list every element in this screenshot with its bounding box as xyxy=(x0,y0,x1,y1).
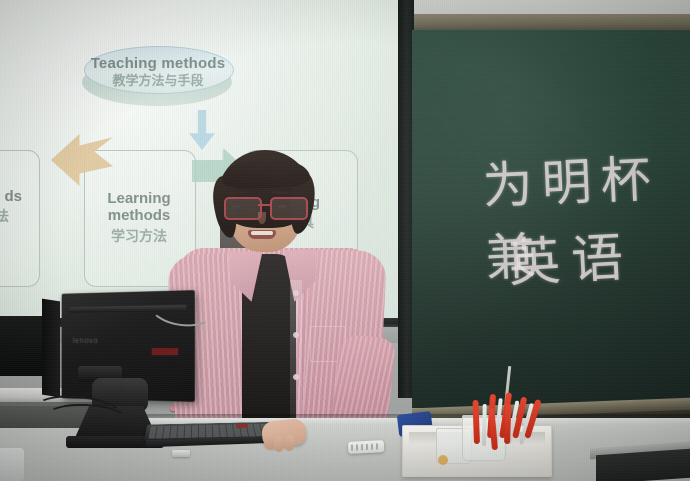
slide-text-left-en: ng ds xyxy=(0,188,38,205)
white-tool xyxy=(482,404,487,446)
blackboard-top-frame xyxy=(412,14,690,31)
arrow-down-icon xyxy=(189,110,215,150)
usb-drive xyxy=(172,450,190,457)
slide-text-mid-zh: 学习方法 xyxy=(84,228,194,244)
slide-text-teaching-methods: ng ds 法 xyxy=(0,188,38,225)
eyeglasses xyxy=(222,197,308,217)
slide-title-zh: 教学方法与手段 xyxy=(80,74,236,89)
teeth xyxy=(251,231,273,235)
clear-jar xyxy=(0,448,24,481)
blackboard-upper-wall xyxy=(412,0,690,15)
eyeglass-bridge xyxy=(258,204,271,206)
slide-text-mid-en: Learning methods xyxy=(84,190,194,225)
shirt-placket xyxy=(290,280,302,430)
shirt-button xyxy=(293,374,299,380)
classroom-photo: Teaching methods 教学方法与手段 ng ds 法 Learnin… xyxy=(0,0,690,481)
finger xyxy=(285,435,295,451)
lenovo-logo: lenovo xyxy=(73,336,99,345)
shirt-button xyxy=(293,332,299,338)
desk-right-dark-block xyxy=(596,449,690,481)
slide-text-left-zh: 法 xyxy=(0,208,38,224)
shirt-button xyxy=(293,290,299,296)
teacher xyxy=(186,150,366,450)
slide-text-learning-methods: Learning methods 学习方法 xyxy=(84,190,194,244)
eyeglass-lens-right xyxy=(270,197,308,220)
monitor-side-bezel xyxy=(42,299,60,398)
keyboard-red-key[interactable] xyxy=(236,424,248,429)
monitor-red-label xyxy=(152,348,178,355)
tray-sticker xyxy=(438,455,448,465)
chalk-text-line-2: 英语 xyxy=(506,215,636,296)
slide-title-disc: Teaching methods 教学方法与手段 xyxy=(80,44,236,106)
remote-control[interactable] xyxy=(348,440,385,454)
slide-title-label: Teaching methods 教学方法与手段 xyxy=(80,56,236,88)
slide-title-en: Teaching methods xyxy=(80,56,236,73)
eyeglass-lens-left xyxy=(224,197,262,220)
finger xyxy=(273,436,284,453)
